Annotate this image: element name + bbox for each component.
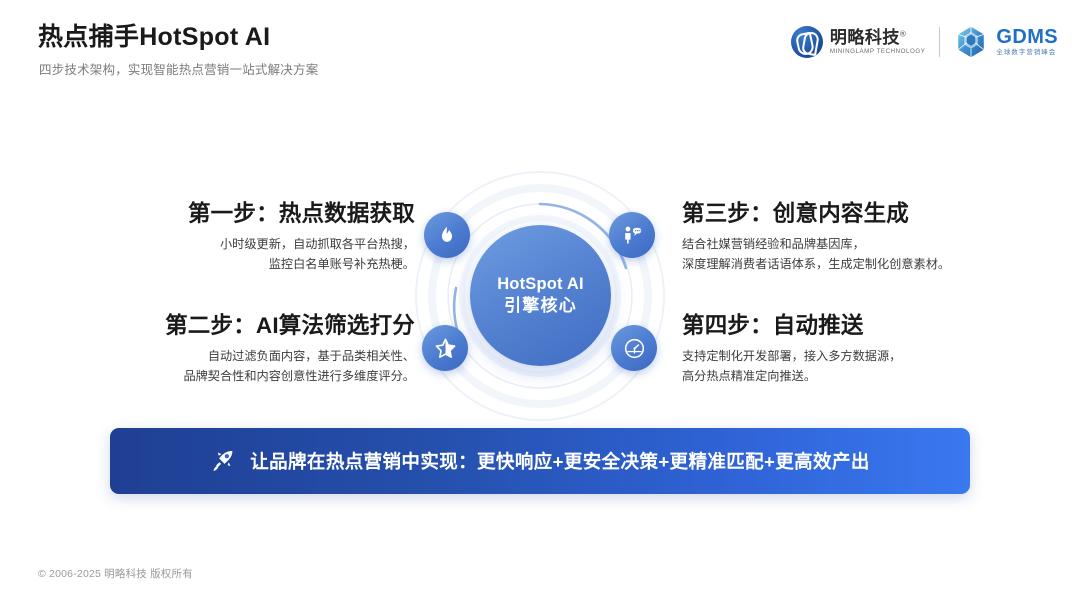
- logo-divider: [939, 27, 940, 57]
- step-3-title: 第三步：创意内容生成: [682, 200, 1012, 228]
- step-4-desc-line: 支持定制化开发部署，接入多方数据源，: [682, 347, 1012, 367]
- flame-icon: [436, 224, 458, 246]
- rocket-icon: [210, 448, 236, 474]
- hub-core: HotSpot AI 引擎核心: [470, 225, 611, 366]
- hub-core-title-cn: 引擎核心: [504, 297, 577, 316]
- slide-header: 热点捕手HotSpot AI 四步技术架构，实现智能热点营销一站式解决方案 明略…: [0, 0, 1080, 100]
- step-2-desc-line: 品牌契合性和内容创意性进行多维度评分。: [85, 367, 415, 387]
- gdms-hexagon-logo-icon: [954, 25, 988, 59]
- step-card-1: 第一步：热点数据获取 小时级更新，自动抓取各平台热搜， 监控白名单账号补充热梗。: [85, 200, 415, 275]
- step-1-title: 第一步：热点数据获取: [85, 200, 415, 228]
- step-card-4: 第四步：自动推送 支持定制化开发部署，接入多方数据源， 高分热点精准定向推送。: [682, 312, 1012, 387]
- step-2-desc-line: 自动过滤负面内容，基于品类相关性、: [85, 347, 415, 367]
- step-3-desc-line: 深度理解消费者话语体系，生成定制化创意素材。: [682, 255, 1012, 275]
- step-card-3: 第三步：创意内容生成 结合社媒营销经验和品牌基因库， 深度理解消费者话语体系，生…: [682, 200, 1012, 275]
- registered-mark: ®: [900, 29, 906, 38]
- person-speech-bubble-icon: [621, 224, 643, 246]
- step-2-description: 自动过滤负面内容，基于品类相关性、 品牌契合性和内容创意性进行多维度评分。: [85, 347, 415, 387]
- step-1-desc-line: 小时级更新，自动抓取各平台热搜，: [85, 235, 415, 255]
- page-title: 热点捕手HotSpot AI: [38, 22, 318, 52]
- hub-diagram: HotSpot AI 引擎核心: [408, 168, 673, 423]
- logo-row: 明略科技® MININGLAMP TECHNOLOGY: [791, 22, 1058, 62]
- gauge-dial-icon: [623, 337, 646, 360]
- minglamp-fish-logo-icon: [791, 26, 823, 58]
- step-4-description: 支持定制化开发部署，接入多方数据源， 高分热点精准定向推送。: [682, 347, 1012, 387]
- step-4-title: 第四步：自动推送: [682, 312, 1012, 340]
- gdms-logo-en: GDMS: [996, 27, 1058, 47]
- gdms-logo-cn: 全球数字营销峰会: [996, 50, 1058, 56]
- title-block: 热点捕手HotSpot AI 四步技术架构，实现智能热点营销一站式解决方案: [38, 22, 318, 78]
- hub-core-title-en: HotSpot AI: [497, 275, 584, 293]
- banner-text: 让品牌在热点营销中实现：更快响应+更安全决策+更精准匹配+更高效产出: [250, 448, 870, 474]
- hub-satellite-bottom-right[interactable]: [611, 325, 657, 371]
- step-2-title: 第二步：AI算法筛选打分: [85, 312, 415, 340]
- logo-minglue: 明略科技® MININGLAMP TECHNOLOGY: [791, 26, 926, 58]
- hub-satellite-top-left[interactable]: [424, 212, 470, 258]
- gdms-logo-text: GDMS 全球数字营销峰会: [996, 27, 1058, 56]
- hub-satellite-top-right[interactable]: [609, 212, 655, 258]
- minglue-logo-text: 明略科技® MININGLAMP TECHNOLOGY: [830, 29, 926, 55]
- step-card-2: 第二步：AI算法筛选打分 自动过滤负面内容，基于品类相关性、 品牌契合性和内容创…: [85, 312, 415, 387]
- page-subtitle: 四步技术架构，实现智能热点营销一站式解决方案: [39, 59, 318, 78]
- step-3-desc-line: 结合社媒营销经验和品牌基因库，: [682, 235, 1012, 255]
- logo-gdms: GDMS 全球数字营销峰会: [954, 25, 1058, 59]
- value-proposition-banner: 让品牌在热点营销中实现：更快响应+更安全决策+更精准匹配+更高效产出: [110, 428, 970, 494]
- half-star-icon: [434, 337, 457, 360]
- minglue-logo-en: MININGLAMP TECHNOLOGY: [830, 49, 926, 55]
- step-1-description: 小时级更新，自动抓取各平台热搜， 监控白名单账号补充热梗。: [85, 235, 415, 275]
- minglue-logo-cn: 明略科技: [830, 28, 900, 47]
- step-4-desc-line: 高分热点精准定向推送。: [682, 367, 1012, 387]
- step-1-desc-line: 监控白名单账号补充热梗。: [85, 255, 415, 275]
- slide-canvas: 热点捕手HotSpot AI 四步技术架构，实现智能热点营销一站式解决方案 明略…: [0, 0, 1080, 596]
- step-3-description: 结合社媒营销经验和品牌基因库， 深度理解消费者话语体系，生成定制化创意素材。: [682, 235, 1012, 275]
- hub-satellite-bottom-left[interactable]: [422, 325, 468, 371]
- footer-copyright: © 2006-2025 明略科技 版权所有: [38, 566, 193, 581]
